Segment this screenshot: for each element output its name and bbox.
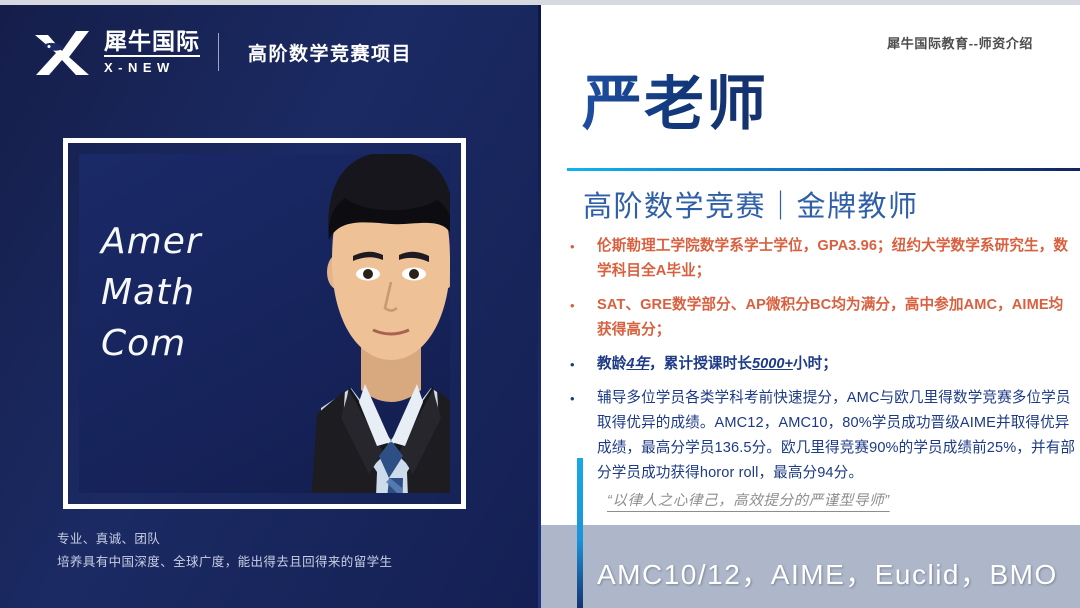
portrait-frame: Amer Math Com [63,138,466,509]
title-divider-rule [567,168,1080,171]
top-divider-strip [0,0,1080,5]
credential-item: •伦斯勒理工学院数学系学士学位，GPA3.96；纽约大学数学系研究生，数学科目全… [566,234,1076,284]
bullet-marker-icon: • [566,234,597,284]
competition-banner-text: AMC10/12，AIME，Euclid，BMO [597,553,1058,593]
highlight-value: 4年 [626,356,649,372]
brand-caption: 专业、真诚、团队 培养具有中国深度、全球广度，能出得去且回得来的留学生 [57,528,392,574]
teacher-name-title: 严老师 [582,74,768,134]
credential-text: 辅导多位学员各类学科考前快速提分，AMC与欧几里得数学竞赛多位学员取得优异的成绩… [597,386,1076,486]
teacher-quote: “以律人之心律己，高效提分的严谨型导师” [607,489,1027,510]
caption-line-2: 培养具有中国深度、全球广度，能出得去且回得来的留学生 [57,551,392,574]
credential-text: 伦斯勒理工学院数学系学士学位，GPA3.96；纽约大学数学系研究生，数学科目全A… [597,234,1076,284]
left-panel: 犀牛国际 X-NEW 高阶数学竞赛项目 Amer Math Com [0,0,541,608]
page-header-label: 犀牛国际教育--师资介绍 [887,33,1033,52]
brand-logo-block[interactable]: 犀牛国际 X-NEW 高阶数学竞赛项目 [33,27,412,77]
credential-text: 教龄4年，累计授课时长5000+小时； [597,352,1076,377]
caption-line-1: 专业、真诚、团队 [57,528,392,551]
competition-watermark-text: Amer Math Com [101,216,202,369]
brand-wordmark: 犀牛国际 X-NEW [104,30,200,74]
portrait-backdrop: Amer Math Com [79,154,450,493]
rhino-x-logo-icon [33,27,91,77]
logo-separator [218,33,219,71]
highlight-value: 5000+ [752,356,793,372]
brand-name-cn: 犀牛国际 [104,30,200,57]
credential-item: •辅导多位学员各类学科考前快速提分，AMC与欧几里得数学竞赛多位学员取得优异的成… [566,386,1076,486]
credential-item: •SAT、GRE数学部分、AP微积分BC均为满分，高中参加AMC，AIME均获得… [566,293,1076,343]
teacher-portrait-image [265,154,450,493]
credential-text-part: 小时； [793,356,837,372]
credential-text: SAT、GRE数学部分、AP微积分BC均为满分，高中参加AMC，AIME均获得高… [597,293,1076,343]
quote-accent-bar [577,458,583,608]
credential-item: •教龄4年，累计授课时长5000+小时； [566,352,1076,377]
bullet-marker-icon: • [566,352,597,377]
bullet-marker-icon: • [566,293,597,343]
program-tagline: 高阶数学竞赛项目 [248,39,412,66]
teacher-subtitle: 高阶数学竞赛｜金牌教师 [583,183,919,225]
competition-banner: AMC10/12，AIME，Euclid，BMO [541,525,1080,608]
right-panel: 犀牛国际教育--师资介绍 严老师 高阶数学竞赛｜金牌教师 •伦斯勒理工学院数学系… [541,0,1080,608]
credentials-list: •伦斯勒理工学院数学系学士学位，GPA3.96；纽约大学数学系研究生，数学科目全… [566,234,1076,495]
credential-text-part: 教龄 [597,356,626,372]
brand-name-en: X-NEW [104,61,200,74]
credential-text-part: ，累计授课时长 [649,356,752,372]
